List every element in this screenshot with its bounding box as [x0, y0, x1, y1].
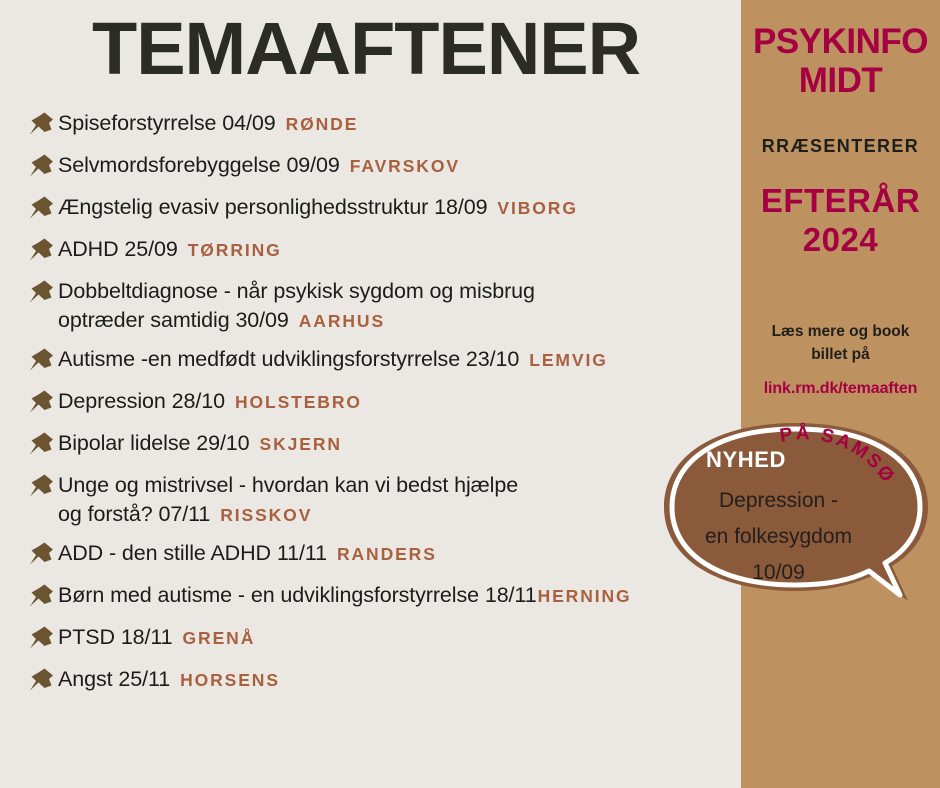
event-title-cont: og forstå? 07/11 — [58, 502, 210, 526]
event-title: Dobbeltdiagnose - når psykisk sygdom og … — [58, 279, 535, 303]
list-item[interactable]: Børn med autisme - en udviklingsforstyrr… — [24, 580, 742, 614]
event-city: GRENÅ — [183, 628, 256, 648]
event-text: Autisme -en medfødt udviklingsforstyrrel… — [58, 344, 608, 375]
event-city: VIBORG — [497, 198, 577, 218]
pushpin-icon — [24, 346, 58, 376]
pushpin-icon — [24, 388, 58, 418]
event-city: RØNDE — [286, 114, 359, 134]
event-title: PTSD 18/11 — [58, 625, 173, 649]
list-item[interactable]: ADD - den stille ADHD 11/11RANDERS — [24, 538, 742, 572]
brand-line-1: PSYKINFO — [741, 22, 940, 61]
event-title: Spiseforstyrrelse 04/09 — [58, 111, 276, 135]
pushpin-icon — [24, 624, 58, 654]
event-text: Angst 25/11HORSENS — [58, 664, 280, 695]
list-item[interactable]: Ængstelig evasiv personlighedsstruktur 1… — [24, 192, 742, 226]
pushpin-icon — [24, 472, 58, 502]
event-title: Bipolar lidelse 29/10 — [58, 431, 250, 455]
list-item[interactable]: Bipolar lidelse 29/10SKJERN — [24, 428, 742, 462]
event-text: Børn med autisme - en udviklingsforstyrr… — [58, 580, 632, 611]
season-heading: EFTERÅR 2024 — [741, 182, 940, 260]
list-item[interactable]: PTSD 18/11GRENÅ — [24, 622, 742, 656]
presents-label: RRÆSENTERER — [741, 136, 940, 157]
event-city: FAVRSKOV — [350, 156, 460, 176]
pushpin-icon — [24, 430, 58, 460]
brand-line-2: MIDT — [741, 61, 940, 100]
booking-instructions: Læs mere og book billet på — [749, 320, 932, 367]
event-text: Ængstelig evasiv personlighedsstruktur 1… — [58, 192, 578, 223]
pushpin-icon — [24, 194, 58, 224]
list-item[interactable]: Depression 28/10HOLSTEBRO — [24, 386, 742, 420]
event-city: LEMVIG — [529, 350, 608, 370]
pushpin-icon — [24, 278, 58, 308]
event-text: Unge og mistrivsel - hvordan kan vi beds… — [58, 470, 518, 530]
pushpin-icon — [24, 582, 58, 612]
event-title: Børn med autisme - en udviklingsforstyrr… — [58, 583, 537, 607]
event-text: Dobbeltdiagnose - når psykisk sygdom og … — [58, 276, 535, 336]
list-item[interactable]: ADHD 25/09TØRRING — [24, 234, 742, 268]
event-list: Spiseforstyrrelse 04/09RØNDE Selvmordsfo… — [24, 108, 742, 706]
season-line-1: EFTERÅR — [741, 182, 940, 221]
booking-link[interactable]: link.rm.dk/temaaften — [741, 380, 940, 398]
event-title: Selvmordsforebyggelse 09/09 — [58, 153, 340, 177]
list-item[interactable]: Spiseforstyrrelse 04/09RØNDE — [24, 108, 742, 142]
brand-name: PSYKINFO MIDT — [741, 22, 940, 100]
event-title: ADHD 25/09 — [58, 237, 178, 261]
event-title: Unge og mistrivsel - hvordan kan vi beds… — [58, 473, 518, 497]
pushpin-icon — [24, 152, 58, 182]
event-city: HERNING — [538, 586, 632, 606]
list-item[interactable]: Selvmordsforebyggelse 09/09FAVRSKOV — [24, 150, 742, 184]
event-title: Autisme -en medfødt udviklingsforstyrrel… — [58, 347, 519, 371]
event-text: Spiseforstyrrelse 04/09RØNDE — [58, 108, 358, 139]
season-year: 2024 — [741, 221, 940, 260]
event-city: HOLSTEBRO — [235, 392, 362, 412]
sidebar: PSYKINFO MIDT RRÆSENTERER EFTERÅR 2024 L… — [741, 0, 940, 788]
list-item[interactable]: Angst 25/11HORSENS — [24, 664, 742, 698]
event-title-cont: optræder samtidig 30/09 — [58, 308, 289, 332]
event-title-line2: og forstå? 07/11RISSKOV — [58, 500, 518, 530]
pushpin-icon — [24, 236, 58, 266]
event-text: Depression 28/10HOLSTEBRO — [58, 386, 362, 417]
event-city: RISSKOV — [220, 505, 312, 525]
booking-line-1: Læs mere og book — [749, 320, 932, 343]
booking-line-2: billet på — [749, 343, 932, 366]
event-text: PTSD 18/11GRENÅ — [58, 622, 255, 653]
pushpin-icon — [24, 540, 58, 570]
event-text: Selvmordsforebyggelse 09/09FAVRSKOV — [58, 150, 460, 181]
event-city: AARHUS — [299, 311, 385, 331]
event-city: HORSENS — [180, 670, 280, 690]
news-speech-bubble[interactable]: NYHED Depression - en folkesygdom 10/09 … — [646, 415, 940, 650]
event-title: Depression 28/10 — [58, 389, 225, 413]
page-title: TEMAAFTENER — [92, 12, 640, 86]
pushpin-icon — [24, 666, 58, 696]
event-text: Bipolar lidelse 29/10SKJERN — [58, 428, 342, 459]
event-text: ADHD 25/09TØRRING — [58, 234, 282, 265]
event-title-line2: optræder samtidig 30/09AARHUS — [58, 306, 535, 336]
event-city: TØRRING — [188, 240, 282, 260]
list-item[interactable]: Dobbeltdiagnose - når psykisk sygdom og … — [24, 276, 742, 336]
event-title: ADD - den stille ADHD 11/11 — [58, 541, 327, 565]
list-item[interactable]: Unge og mistrivsel - hvordan kan vi beds… — [24, 470, 742, 530]
event-title: Ængstelig evasiv personlighedsstruktur 1… — [58, 195, 487, 219]
list-item[interactable]: Autisme -en medfødt udviklingsforstyrrel… — [24, 344, 742, 378]
event-title: Angst 25/11 — [58, 667, 170, 691]
pushpin-icon — [24, 110, 58, 140]
event-city: SKJERN — [260, 434, 342, 454]
event-city: RANDERS — [337, 544, 437, 564]
event-text: ADD - den stille ADHD 11/11RANDERS — [58, 538, 437, 569]
poster-canvas: TEMAAFTENER Spiseforstyrrelse 04/09RØNDE… — [0, 0, 940, 788]
